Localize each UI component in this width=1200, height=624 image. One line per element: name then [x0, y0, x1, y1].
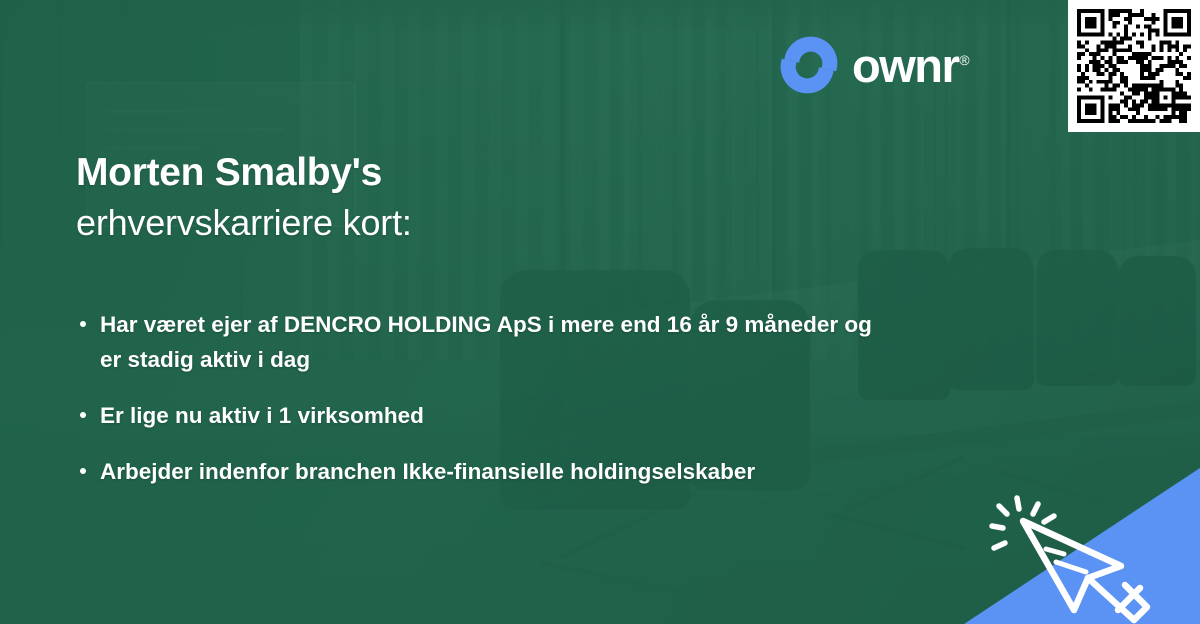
corner-triangle [964, 468, 1200, 624]
ownr-wordmark: ownr® [852, 42, 970, 89]
qr-code-icon [1077, 9, 1191, 123]
bullet-icon [80, 412, 86, 418]
corner-accent [964, 468, 1200, 624]
list-item-label: Er lige nu aktiv i 1 virksomhed [100, 403, 424, 428]
bullet-icon [80, 321, 86, 327]
ownr-career-card: ownr® Morten Smalby's erhvervskarriere k… [0, 0, 1200, 624]
ownr-logo[interactable]: ownr® [780, 36, 970, 94]
page-subtitle: erhvervskarriere kort: [76, 201, 936, 244]
bullet-icon [80, 468, 86, 474]
list-item-label: Har været ejer af DENCRO HOLDING ApS i m… [100, 312, 872, 371]
list-item: Har været ejer af DENCRO HOLDING ApS i m… [76, 308, 876, 376]
page-title: Morten Smalby's [76, 150, 936, 195]
fact-list: Har været ejer af DENCRO HOLDING ApS i m… [76, 308, 876, 489]
list-item: Er lige nu aktiv i 1 virksomhed [76, 399, 876, 433]
career-card-content: Morten Smalby's erhvervskarriere kort: H… [76, 150, 936, 511]
qr-code-panel[interactable] [1068, 0, 1200, 132]
list-item: Arbejder indenfor branchen Ikke-finansie… [76, 455, 876, 489]
list-item-label: Arbejder indenfor branchen Ikke-finansie… [100, 459, 755, 484]
registered-trademark-icon: ® [959, 52, 969, 68]
ownr-circle-swoosh-icon [780, 36, 838, 94]
ownr-wordmark-text: ownr [852, 39, 958, 92]
